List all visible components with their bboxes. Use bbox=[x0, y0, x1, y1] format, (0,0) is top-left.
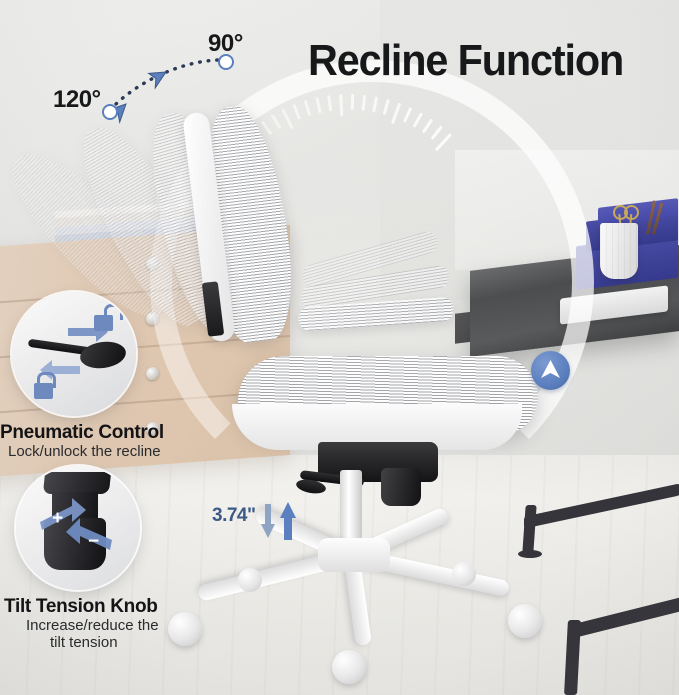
tension-arrows bbox=[16, 466, 140, 590]
gauge-tick bbox=[413, 112, 423, 127]
angle-endpoint-120 bbox=[102, 104, 118, 120]
gauge-tick bbox=[271, 114, 282, 129]
up-chevron-glyph bbox=[531, 351, 570, 390]
gauge-tick bbox=[261, 121, 273, 136]
page-title: Recline Function bbox=[308, 36, 623, 86]
caster-wheel bbox=[332, 650, 366, 684]
gauge-tick bbox=[315, 97, 321, 113]
minus-label: − bbox=[88, 531, 99, 553]
callout-subtitle-line1: Increase/reduce the bbox=[26, 618, 159, 635]
callout-subtitle-line2: tilt tension bbox=[50, 635, 159, 652]
gauge-tick bbox=[403, 107, 412, 123]
gauge-tick bbox=[281, 109, 293, 130]
angle-label-120: 120° bbox=[53, 86, 101, 114]
callout-title: Pneumatic Control bbox=[0, 422, 164, 444]
plus-label: + bbox=[52, 508, 63, 530]
infographic-canvas: 90° 120° Recline Function bbox=[0, 0, 679, 695]
base-hub bbox=[318, 538, 390, 572]
callout-title: Tilt Tension Knob bbox=[4, 596, 159, 618]
arrow-down-icon bbox=[261, 504, 275, 538]
gauge-tick bbox=[327, 95, 332, 111]
gauge-tick bbox=[422, 119, 433, 134]
gauge-tick bbox=[351, 94, 354, 110]
gauge-tick bbox=[292, 104, 301, 120]
gauge-tick bbox=[391, 103, 401, 125]
callout-pneumatic-control: Pneumatic Control Lock/unlock the reclin… bbox=[12, 292, 164, 461]
height-adjust-arrows bbox=[258, 498, 318, 544]
pneumatic-control-illustration bbox=[12, 292, 136, 416]
gauge-tick bbox=[372, 96, 378, 112]
tilt-tension-illustration: + − bbox=[16, 466, 140, 590]
callout-tilt-tension-knob: + − Tilt Tension Knob Increase/reduce th… bbox=[16, 466, 159, 652]
arrow-up-icon bbox=[280, 502, 296, 540]
gauge-tick bbox=[383, 99, 390, 115]
gauge-tick bbox=[361, 95, 366, 111]
tilt-tension-knob bbox=[381, 468, 421, 506]
caster-wheel bbox=[508, 604, 542, 638]
angle-label-90: 90° bbox=[208, 30, 243, 58]
gauge-tick bbox=[435, 133, 452, 151]
caster-wheel bbox=[452, 562, 476, 586]
up-chevron-badge-icon bbox=[531, 351, 570, 390]
gauge-tick bbox=[339, 94, 343, 116]
gauge-tick bbox=[304, 100, 311, 116]
gas-cylinder bbox=[340, 470, 362, 542]
caster-wheel bbox=[238, 568, 262, 592]
height-adjust-label: 3.74" bbox=[212, 505, 256, 527]
gauge-tick bbox=[431, 126, 443, 140]
callout-subtitle: Lock/unlock the recline bbox=[8, 444, 164, 461]
caster-wheel bbox=[168, 612, 202, 646]
